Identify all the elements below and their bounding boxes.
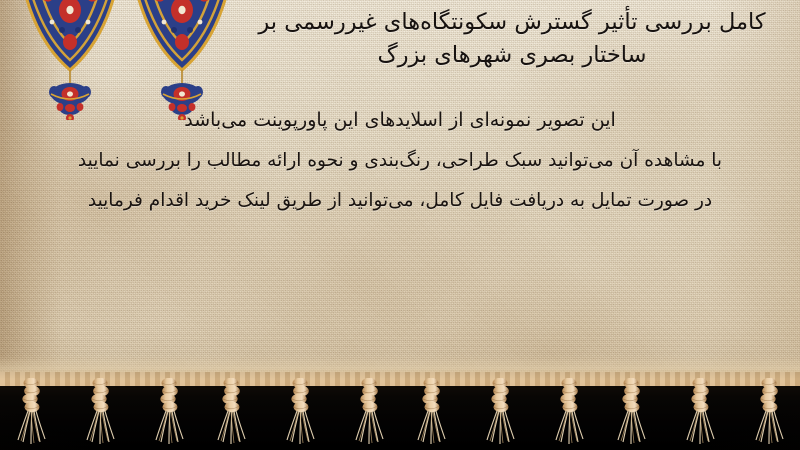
body-line-3: در صورت تمایل به دریافت فایل کامل، می‌تو… — [0, 191, 800, 212]
persian-tazhib-pendant-icon — [122, 0, 242, 120]
slide-title: کامل بررسی تأثیر گسترش سکونتگاه‌های غیرر… — [240, 6, 784, 72]
carpet-fringe — [0, 356, 800, 450]
slide-canvas: کامل بررسی تأثیر گسترش سکونتگاه‌های غیرر… — [0, 0, 800, 450]
tassel — [282, 378, 318, 448]
tassel — [415, 378, 451, 448]
slide-body: این تصویر نمونه‌ای از اسلایدهای این پاور… — [0, 110, 800, 212]
persian-tazhib-pendant-icon — [10, 0, 130, 120]
tassel — [82, 378, 118, 448]
tassel — [215, 378, 251, 448]
body-line-1: این تصویر نمونه‌ای از اسلایدهای این پاور… — [0, 110, 800, 131]
body-line-2: با مشاهده آن می‌توانید سبک طراحی، رنگ‌بن… — [0, 151, 800, 172]
ornament-group — [0, 0, 260, 120]
tassel — [482, 378, 518, 448]
tassel — [749, 378, 785, 448]
tassel — [682, 378, 718, 448]
tassel-row — [0, 378, 800, 450]
tassel — [15, 378, 51, 448]
tassel — [349, 378, 385, 448]
slide-title-line-2: ساختار بصری شهرهای بزرگ — [240, 39, 784, 72]
slide-title-line-1: کامل بررسی تأثیر گسترش سکونتگاه‌های غیرر… — [240, 6, 784, 39]
tassel — [615, 378, 651, 448]
tassel — [549, 378, 585, 448]
tassel — [149, 378, 185, 448]
